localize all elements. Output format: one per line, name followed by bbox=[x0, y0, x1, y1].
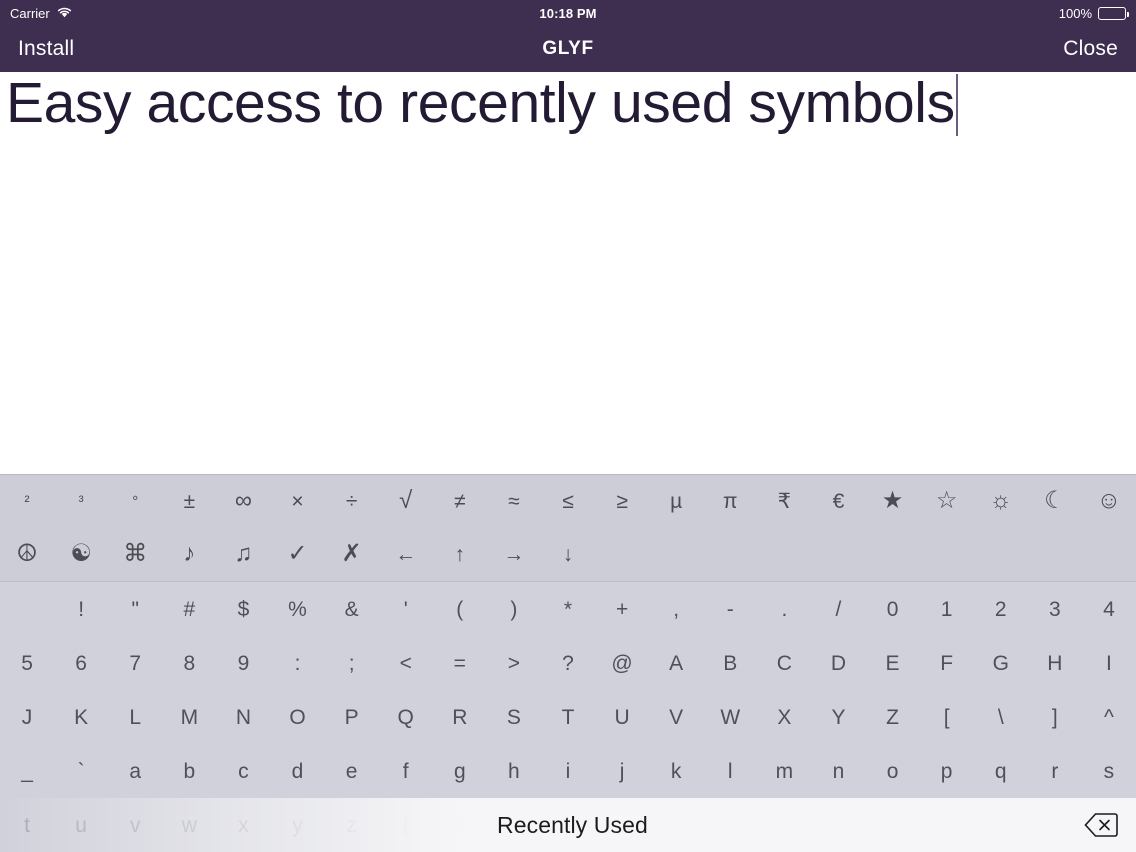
recently-used-section: ²³°±∞×÷√≠≈≤≥µπ₹€★☆☼☾☺ ☮☯⌘♪♫✓✗←↑→↓ bbox=[0, 474, 1136, 581]
key-char[interactable]: _ bbox=[0, 744, 54, 798]
key-char[interactable]: v bbox=[108, 798, 162, 852]
key-char[interactable]: | bbox=[433, 798, 487, 852]
key-symbol[interactable]: ⌘ bbox=[108, 527, 162, 581]
key-char[interactable]: ? bbox=[541, 636, 595, 690]
key-char[interactable]: ' bbox=[379, 582, 433, 636]
key-char bbox=[974, 798, 1028, 852]
key-symbol[interactable]: ✗ bbox=[325, 527, 379, 581]
key-symbol bbox=[920, 527, 974, 581]
key-char[interactable]: m bbox=[757, 744, 811, 798]
key-symbol[interactable]: ☯ bbox=[54, 527, 108, 581]
key-char bbox=[703, 798, 757, 852]
key-char[interactable]: L bbox=[108, 690, 162, 744]
key-char[interactable]: t bbox=[0, 798, 54, 852]
key-symbol[interactable]: π bbox=[703, 475, 757, 527]
key-char[interactable]: > bbox=[487, 636, 541, 690]
key-symbol[interactable]: ∞ bbox=[216, 475, 270, 527]
key-symbol bbox=[1082, 527, 1136, 581]
key-char[interactable]: I bbox=[1082, 636, 1136, 690]
key-char[interactable]: o bbox=[866, 744, 920, 798]
key-char[interactable]: e bbox=[325, 744, 379, 798]
key-symbol[interactable]: ² bbox=[0, 475, 54, 527]
ascii-row-3: JKLMNOPQRSTUVWXYZ[\]^ bbox=[0, 690, 1136, 744]
key-char[interactable]: r bbox=[1028, 744, 1082, 798]
key-char[interactable]: J bbox=[0, 690, 54, 744]
key-symbol bbox=[811, 527, 865, 581]
key-symbol[interactable]: ≤ bbox=[541, 475, 595, 527]
key-char[interactable]: ( bbox=[433, 582, 487, 636]
recently-used-label: Recently Used bbox=[497, 812, 648, 839]
key-char[interactable]: 2 bbox=[974, 582, 1028, 636]
key-symbol bbox=[866, 527, 920, 581]
key-char[interactable]: # bbox=[162, 582, 216, 636]
key-char[interactable]: 7 bbox=[108, 636, 162, 690]
key-symbol[interactable]: ✓ bbox=[270, 527, 324, 581]
key-char[interactable]: s bbox=[1082, 744, 1136, 798]
key-char[interactable]: T bbox=[541, 690, 595, 744]
key-char[interactable]: w bbox=[162, 798, 216, 852]
key-char[interactable]: = bbox=[433, 636, 487, 690]
key-char[interactable]: 1 bbox=[920, 582, 974, 636]
key-char[interactable]: / bbox=[811, 582, 865, 636]
key-char[interactable]: " bbox=[108, 582, 162, 636]
key-symbol[interactable]: ₹ bbox=[757, 475, 811, 527]
key-char[interactable]: S bbox=[487, 690, 541, 744]
key-char[interactable]: U bbox=[595, 690, 649, 744]
key-char[interactable]: y bbox=[270, 798, 324, 852]
key-char[interactable]: H bbox=[1028, 636, 1082, 690]
key-char bbox=[649, 798, 703, 852]
battery-full-icon bbox=[1098, 7, 1126, 20]
key-symbol bbox=[595, 527, 649, 581]
key-char[interactable]: j bbox=[595, 744, 649, 798]
key-char[interactable]: d bbox=[270, 744, 324, 798]
navigation-bar: Install GLYF Close bbox=[0, 26, 1136, 72]
key-char[interactable]: A bbox=[649, 636, 703, 690]
key-char[interactable]: p bbox=[920, 744, 974, 798]
ascii-row-4: _`abcdefghijklmnopqrs bbox=[0, 744, 1136, 798]
battery-percent-label: 100% bbox=[1059, 6, 1092, 21]
key-symbol[interactable]: ← bbox=[379, 527, 433, 581]
text-input-value: Easy access to recently used symbols bbox=[0, 72, 955, 135]
ascii-row-1: !"#$%&'()*+,-./01234 bbox=[0, 582, 1136, 636]
key-symbol[interactable]: ★ bbox=[866, 475, 920, 527]
key-char[interactable]: M bbox=[162, 690, 216, 744]
key-char[interactable]: ; bbox=[325, 636, 379, 690]
key-char bbox=[866, 798, 920, 852]
backspace-delete-icon[interactable] bbox=[1083, 811, 1119, 839]
key-char[interactable]: Q bbox=[379, 690, 433, 744]
key-symbol[interactable]: → bbox=[487, 527, 541, 581]
key-symbol[interactable]: × bbox=[270, 475, 324, 527]
key-symbol bbox=[974, 527, 1028, 581]
key-char[interactable]: R bbox=[433, 690, 487, 744]
key-char[interactable]: V bbox=[649, 690, 703, 744]
key-char[interactable]: * bbox=[541, 582, 595, 636]
key-symbol[interactable]: ☆ bbox=[920, 475, 974, 527]
key-char[interactable]: E bbox=[866, 636, 920, 690]
key-symbol bbox=[757, 527, 811, 581]
key-char[interactable]: q bbox=[974, 744, 1028, 798]
key-char[interactable]: ` bbox=[54, 744, 108, 798]
key-char[interactable]: & bbox=[325, 582, 379, 636]
key-symbol[interactable]: ☼ bbox=[974, 475, 1028, 527]
text-caret-wrapper bbox=[955, 74, 958, 136]
key-char[interactable]: { bbox=[379, 798, 433, 852]
key-char bbox=[757, 798, 811, 852]
key-char[interactable]: C bbox=[757, 636, 811, 690]
key-char[interactable]: X bbox=[757, 690, 811, 744]
install-button[interactable]: Install bbox=[18, 37, 74, 61]
key-char bbox=[920, 798, 974, 852]
key-char[interactable]: \ bbox=[974, 690, 1028, 744]
key-char[interactable]: B bbox=[703, 636, 757, 690]
key-char[interactable]: D bbox=[811, 636, 865, 690]
key-char[interactable]: N bbox=[216, 690, 270, 744]
key-char[interactable]: O bbox=[270, 690, 324, 744]
page-title: GLYF bbox=[0, 38, 1136, 60]
glyf-keyboard-screen: Carrier 10:18 PM 100% Install GLYF Close… bbox=[0, 0, 1136, 852]
key-char bbox=[0, 582, 54, 636]
key-symbol[interactable]: ☮ bbox=[0, 527, 54, 581]
key-symbol[interactable]: ☾ bbox=[1028, 475, 1082, 527]
key-char[interactable]: % bbox=[270, 582, 324, 636]
recent-symbol-row-1: ²³°±∞×÷√≠≈≤≥µπ₹€★☆☼☾☺ bbox=[0, 475, 1136, 527]
key-char[interactable]: g bbox=[433, 744, 487, 798]
key-char[interactable]: c bbox=[216, 744, 270, 798]
key-char bbox=[811, 798, 865, 852]
key-char[interactable]: + bbox=[595, 582, 649, 636]
glyf-keyboard: ²³°±∞×÷√≠≈≤≥µπ₹€★☆☼☾☺ ☮☯⌘♪♫✓✗←↑→↓ !"#$%&… bbox=[0, 474, 1136, 852]
key-symbol[interactable]: ♫ bbox=[216, 527, 270, 581]
key-char[interactable]: 3 bbox=[1028, 582, 1082, 636]
key-char[interactable]: 0 bbox=[866, 582, 920, 636]
text-caret bbox=[956, 74, 958, 136]
key-char[interactable]: Y bbox=[811, 690, 865, 744]
key-symbol bbox=[649, 527, 703, 581]
key-char[interactable]: @ bbox=[595, 636, 649, 690]
status-bar-time: 10:18 PM bbox=[0, 6, 1136, 21]
key-char[interactable]: . bbox=[757, 582, 811, 636]
key-symbol[interactable]: ↓ bbox=[541, 527, 595, 581]
key-symbol[interactable]: ³ bbox=[54, 475, 108, 527]
ascii-row-2: 56789:;<=>?@ABCDEFGHI bbox=[0, 636, 1136, 690]
text-input-area[interactable]: Easy access to recently used symbols bbox=[0, 72, 1136, 474]
key-char[interactable]: ^ bbox=[1082, 690, 1136, 744]
key-symbol[interactable]: € bbox=[811, 475, 865, 527]
key-symbol[interactable]: µ bbox=[649, 475, 703, 527]
key-char[interactable]: G bbox=[974, 636, 1028, 690]
key-char[interactable]: 5 bbox=[0, 636, 54, 690]
key-char[interactable]: : bbox=[270, 636, 324, 690]
key-char[interactable]: 9 bbox=[216, 636, 270, 690]
key-char[interactable]: K bbox=[54, 690, 108, 744]
key-char[interactable]: z bbox=[325, 798, 379, 852]
key-char[interactable]: < bbox=[379, 636, 433, 690]
status-bar: Carrier 10:18 PM 100% bbox=[0, 0, 1136, 26]
key-symbol[interactable]: ≠ bbox=[433, 475, 487, 527]
key-symbol[interactable]: ☺ bbox=[1082, 475, 1136, 527]
key-char[interactable]: , bbox=[649, 582, 703, 636]
key-char[interactable]: f bbox=[379, 744, 433, 798]
key-char[interactable]: 6 bbox=[54, 636, 108, 690]
key-symbol bbox=[1028, 527, 1082, 581]
key-char[interactable]: u bbox=[54, 798, 108, 852]
key-symbol[interactable]: ° bbox=[108, 475, 162, 527]
key-symbol[interactable]: ÷ bbox=[325, 475, 379, 527]
key-char[interactable]: i bbox=[541, 744, 595, 798]
close-button[interactable]: Close bbox=[1063, 37, 1118, 61]
key-char[interactable]: ! bbox=[54, 582, 108, 636]
key-char[interactable]: 8 bbox=[162, 636, 216, 690]
key-char[interactable]: [ bbox=[920, 690, 974, 744]
key-char bbox=[1028, 798, 1082, 852]
key-char[interactable]: 4 bbox=[1082, 582, 1136, 636]
recent-symbol-row-2: ☮☯⌘♪♫✓✗←↑→↓ bbox=[0, 527, 1136, 581]
key-symbol[interactable]: √ bbox=[379, 475, 433, 527]
key-char[interactable]: h bbox=[487, 744, 541, 798]
status-bar-right: 100% bbox=[1059, 6, 1126, 21]
key-symbol[interactable]: ↑ bbox=[433, 527, 487, 581]
key-char[interactable]: ) bbox=[487, 582, 541, 636]
key-char[interactable]: W bbox=[703, 690, 757, 744]
key-char[interactable]: a bbox=[108, 744, 162, 798]
key-char[interactable]: F bbox=[920, 636, 974, 690]
key-symbol[interactable]: ≥ bbox=[595, 475, 649, 527]
key-char[interactable]: - bbox=[703, 582, 757, 636]
key-char[interactable]: b bbox=[162, 744, 216, 798]
key-char[interactable]: $ bbox=[216, 582, 270, 636]
key-char[interactable]: x bbox=[216, 798, 270, 852]
key-char[interactable]: k bbox=[649, 744, 703, 798]
key-char[interactable]: l bbox=[703, 744, 757, 798]
key-char[interactable]: Z bbox=[866, 690, 920, 744]
key-symbol[interactable]: ≈ bbox=[487, 475, 541, 527]
key-symbol[interactable]: ± bbox=[162, 475, 216, 527]
key-symbol bbox=[703, 527, 757, 581]
key-symbol[interactable]: ♪ bbox=[162, 527, 216, 581]
key-char[interactable]: n bbox=[811, 744, 865, 798]
key-char[interactable]: ] bbox=[1028, 690, 1082, 744]
key-char[interactable]: P bbox=[325, 690, 379, 744]
